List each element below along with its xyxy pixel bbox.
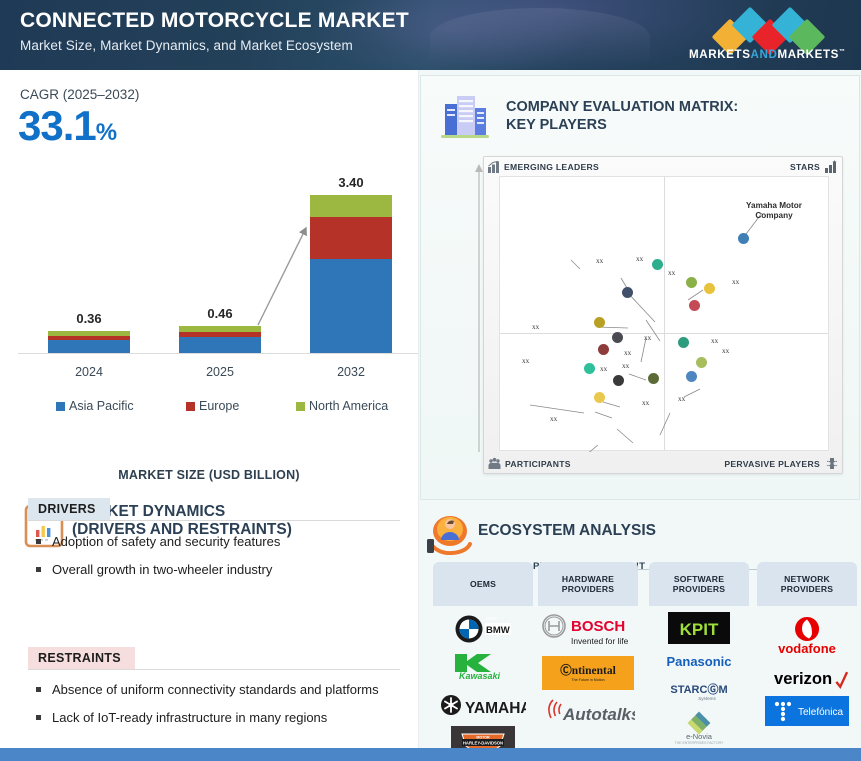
- matrix-point-label-10: xx: [678, 395, 685, 403]
- matrix-quadrant-stars: STARS: [790, 162, 820, 172]
- page-title: CONNECTED MOTORCYCLE MARKET: [20, 9, 409, 33]
- matrix-wrapper: MARKET SHARE/RANK EMERGING LEADERS STARS: [471, 156, 843, 476]
- matrix-title-line2: KEY PLAYERS: [506, 116, 738, 134]
- logo-autotalks: Autotalks: [540, 694, 636, 728]
- svg-text:HARLEY-DAVIDSON: HARLEY-DAVIDSON: [463, 741, 503, 746]
- matrix-point-label-3: xx: [732, 278, 739, 286]
- restraint-item-2-text: Lack of IoT-ready infrastructure in many…: [52, 710, 327, 725]
- matrix-point-label-4: xx: [711, 337, 718, 345]
- markets-and-markets-logo: MARKETSANDMARKETS™: [689, 8, 839, 62]
- bar-segment-asia-pacific-2025: [179, 337, 261, 353]
- legend-swatch-asia-pacific: [56, 402, 65, 411]
- driver-item-2: Overall growth in two-wheeler industry: [36, 562, 272, 577]
- matrix-point-15[interactable]: [594, 392, 605, 403]
- svg-text:BMW: BMW: [486, 625, 510, 636]
- bar-segment-asia-pacific-2024: [48, 340, 130, 353]
- page-header: CONNECTED MOTORCYCLE MARKET Market Size,…: [0, 0, 861, 70]
- matrix-point-label-8: xx: [644, 334, 651, 342]
- ecosystem-header-hardware-line2: PROVIDERS: [562, 584, 614, 595]
- logo-verizon: verizon: [764, 662, 850, 692]
- matrix-point-14[interactable]: [613, 375, 624, 386]
- ecosystem-header-hardware: HARDWARE PROVIDERS: [538, 562, 638, 606]
- restraint-item-1-text: Absence of uniform connectivity standard…: [52, 682, 379, 697]
- legend-label-north-america: North America: [309, 399, 388, 413]
- matrix-point-13[interactable]: [584, 363, 595, 374]
- svg-text:Panasonic: Panasonic: [666, 654, 731, 669]
- ecosystem-header-network-line1: NETWORK: [781, 574, 833, 585]
- legend-item-europe: Europe: [186, 399, 296, 413]
- matrix-label-yamaha: Yamaha Motor Company: [732, 201, 816, 221]
- bar-2024: 0.36: [48, 331, 130, 353]
- matrix-box: EMERGING LEADERS STARS PARTICIPANTS PERV…: [483, 156, 843, 474]
- matrix-quadrant-pervasive-players: PERVASIVE PLAYERS: [724, 459, 820, 469]
- vodafone-logo-icon: vodafone: [764, 613, 850, 657]
- logo-panasonic: Panasonic: [656, 648, 742, 674]
- puzzle-piece-icon: [825, 457, 839, 470]
- logo-continental: Ⓒntinental The Future in Motion: [542, 656, 634, 690]
- svg-text:MOTOR: MOTOR: [476, 736, 490, 740]
- verizon-logo-icon: verizon: [764, 664, 850, 690]
- matrix-quadrant-emerging-leaders: EMERGING LEADERS: [504, 162, 599, 172]
- matrix-point-label-6: xx: [532, 323, 539, 331]
- footer-bar: [0, 748, 861, 761]
- logo-kpit: KPIT: [668, 612, 730, 644]
- logo-e-novia: e-Novia THE ENTERPRISES FACTORY: [656, 710, 742, 746]
- matrix-point-3[interactable]: [704, 283, 715, 294]
- bosch-logo-icon: BOSCH Invented for life: [541, 613, 635, 651]
- ecosystem-header-hardware-line1: HARDWARE: [562, 574, 614, 585]
- svg-text:Systems: Systems: [698, 696, 716, 701]
- matrix-point-label-9: xx: [722, 347, 729, 355]
- legend-swatch-north-america: [296, 402, 305, 411]
- office-building-icon: [439, 92, 491, 140]
- emerging-leaders-icon: [488, 161, 500, 173]
- matrix-point-yamaha[interactable]: [738, 233, 749, 244]
- restraints-rule: [28, 669, 400, 670]
- bar-value-2025: 0.46: [179, 306, 261, 321]
- legend-label-europe: Europe: [199, 399, 239, 413]
- market-size-bar-chart: 0.36 2024 0.46 2025 3.40 2032: [18, 115, 418, 415]
- logo-word-markets2: MARKETS: [777, 48, 839, 61]
- bar-segment-north-america-2032: [310, 195, 392, 217]
- logo-word-markets: MARKETS: [689, 48, 751, 61]
- right-column: COMPANY EVALUATION MATRIX: KEY PLAYERS M…: [419, 70, 861, 748]
- matrix-point-8[interactable]: [678, 337, 689, 348]
- kpit-logo-icon: KPIT: [670, 615, 728, 641]
- chart-legend: Asia Pacific Europe North America: [56, 399, 416, 413]
- svg-text:The Future in Motion: The Future in Motion: [571, 678, 604, 682]
- logo-wordmark: MARKETSANDMARKETS™: [689, 48, 839, 61]
- bar-2032: 3.40: [310, 195, 392, 353]
- ecosystem-logos-software: KPIT Panasonic STARCⒼM Systems: [649, 606, 749, 746]
- bar-segment-asia-pacific-2032: [310, 259, 392, 353]
- logo-bmw: BMW BMW: [440, 612, 526, 646]
- left-column: CAGR (2025–2032) 33.1% 0.36 2024 0.46 20…: [0, 70, 418, 748]
- ecosystem-header-software-line1: SOFTWARE: [673, 574, 725, 585]
- svg-text:Invented for life: Invented for life: [571, 636, 629, 646]
- restraint-item-1: Absence of uniform connectivity standard…: [36, 682, 379, 697]
- stars-bar-icon: [825, 160, 838, 173]
- logo-trademark: ™: [839, 49, 846, 55]
- bar-value-2032: 3.40: [310, 175, 392, 190]
- svg-text:Ⓒntinental: Ⓒntinental: [560, 663, 616, 677]
- matrix-title: COMPANY EVALUATION MATRIX: KEY PLAYERS: [506, 98, 738, 134]
- logo-vodafone: vodafone: [764, 612, 850, 658]
- matrix-title-line1: COMPANY EVALUATION MATRIX:: [506, 98, 738, 116]
- drivers-rule: [28, 520, 400, 521]
- ecosystem-logos-oems: BMW BMW Kawasaki: [433, 606, 533, 761]
- svg-text:Autotalks: Autotalks: [562, 705, 635, 724]
- matrix-point-2[interactable]: [686, 277, 697, 288]
- legend-swatch-europe: [186, 402, 195, 411]
- svg-text:STARCⒼM: STARCⒼM: [670, 682, 727, 696]
- svg-text:e-Novia: e-Novia: [686, 732, 713, 741]
- chart-axis-line: [18, 353, 418, 354]
- logo-starcom: STARCⒼM Systems: [656, 678, 742, 706]
- svg-text:YAMAHA: YAMAHA: [465, 700, 526, 717]
- ecosystem-logos-network: vodafone verizon Telefónica: [757, 606, 857, 726]
- logo-bosch: BOSCH Invented for life: [540, 612, 636, 652]
- logo-kawasaki: Kawasaki: [440, 650, 526, 684]
- matrix-point-label-14: xx: [642, 399, 649, 407]
- ecosystem-header-oems-text: OEMS: [470, 579, 496, 590]
- logo-telefonica: Telefónica: [765, 696, 849, 726]
- svg-text:vodafone: vodafone: [778, 641, 836, 656]
- legend-label-asia-pacific: Asia Pacific: [69, 399, 134, 413]
- svg-text:verizon: verizon: [774, 669, 832, 688]
- svg-text:Telefónica: Telefónica: [798, 707, 843, 718]
- company-evaluation-matrix-panel: COMPANY EVALUATION MATRIX: KEY PLAYERS M…: [420, 75, 860, 500]
- ecosystem-column-hardware: HARDWARE PROVIDERS BOSCH Invented for li…: [538, 562, 638, 728]
- bullet-square-icon: [36, 539, 41, 544]
- matrix-point-label-2: xx: [668, 269, 675, 277]
- matrix-point-label-1: xx: [636, 255, 643, 263]
- restraint-item-2: Lack of IoT-ready infrastructure in many…: [36, 710, 327, 725]
- ecosystem-header-oems: OEMS: [433, 562, 533, 606]
- matrix-point-label-7: xx: [600, 365, 607, 373]
- matrix-point-7[interactable]: [612, 332, 623, 343]
- ecosystem-header-network-line2: PROVIDERS: [781, 584, 833, 595]
- matrix-point-11[interactable]: [648, 373, 659, 384]
- ecosystem-header-software: SOFTWARE PROVIDERS: [649, 562, 749, 606]
- matrix-point-9[interactable]: [696, 357, 707, 368]
- matrix-point-label-5: xx: [596, 257, 603, 265]
- ecosystem-title: ECOSYSTEM ANALYSIS: [478, 522, 656, 540]
- legend-item-asia-pacific: Asia Pacific: [56, 399, 186, 413]
- cagr-label: CAGR (2025–2032): [20, 87, 139, 102]
- matrix-point-1[interactable]: [652, 259, 663, 270]
- bar-category-2032: 2032: [310, 365, 392, 379]
- matrix-plot-area: Yamaha Motor Company xx xx xx xx xx xx: [499, 176, 829, 451]
- logo-word-and: AND: [751, 48, 778, 61]
- ecosystem-column-oems: OEMS BMW BMW Kawasaki: [433, 562, 533, 761]
- handshake-person-icon: [427, 513, 473, 555]
- ecosystem-column-software: SOFTWARE PROVIDERS KPIT Panasonic STARCⒼ…: [649, 562, 749, 746]
- matrix-point-5[interactable]: [622, 287, 633, 298]
- bar-2025: 0.46: [179, 326, 261, 353]
- svg-text:KPIT: KPIT: [680, 620, 719, 639]
- bullet-square-icon: [36, 687, 41, 692]
- autotalks-logo-icon: Autotalks: [541, 696, 635, 726]
- bar-category-2024: 2024: [48, 365, 130, 379]
- bmw-logo-icon: BMW BMW: [452, 614, 514, 644]
- svg-text:Kawasaki: Kawasaki: [459, 671, 501, 681]
- ecosystem-header-software-line2: PROVIDERS: [673, 584, 725, 595]
- starcom-logo-icon: STARCⒼM Systems: [657, 680, 741, 704]
- bar-segment-europe-2032: [310, 217, 392, 259]
- driver-item-1: Adoption of safety and security features: [36, 534, 280, 549]
- driver-item-2-text: Overall growth in two-wheeler industry: [52, 562, 272, 577]
- matrix-point-label-12: xx: [624, 349, 631, 357]
- bar-category-2025: 2025: [179, 365, 261, 379]
- bullet-square-icon: [36, 567, 41, 572]
- driver-item-1-text: Adoption of safety and security features: [52, 534, 280, 549]
- drivers-badge: DRIVERS: [28, 498, 110, 520]
- matrix-point-10[interactable]: [686, 371, 697, 382]
- market-size-caption: MARKET SIZE (USD BILLION): [0, 468, 418, 482]
- participants-icon: [488, 457, 501, 470]
- e-novia-logo-icon: e-Novia THE ENTERPRISES FACTORY: [664, 711, 734, 745]
- matrix-point-4[interactable]: [689, 300, 700, 311]
- matrix-label-yamaha-text: Yamaha Motor Company: [746, 201, 802, 220]
- ecosystem-header-network: NETWORK PROVIDERS: [757, 562, 857, 606]
- restraints-badge: RESTRAINTS: [28, 647, 135, 669]
- bar-value-2024: 0.36: [48, 311, 130, 326]
- svg-text:THE ENTERPRISES FACTORY: THE ENTERPRISES FACTORY: [675, 741, 724, 745]
- matrix-point-label-13: xx: [522, 357, 529, 365]
- matrix-point-12[interactable]: [598, 344, 609, 355]
- matrix-point-6[interactable]: [594, 317, 605, 328]
- matrix-quadrant-participants: PARTICIPANTS: [505, 459, 571, 469]
- matrix-point-label-11: xx: [622, 362, 629, 370]
- matrix-point-label-15: xx: [550, 415, 557, 423]
- bullet-square-icon: [36, 715, 41, 720]
- svg-text:BMW: BMW: [486, 616, 498, 621]
- panasonic-logo-icon: Panasonic: [657, 651, 741, 671]
- svg-text:BOSCH: BOSCH: [571, 618, 625, 635]
- ecosystem-logos-hardware: BOSCH Invented for life Ⓒntinental The F…: [538, 606, 638, 728]
- page-subtitle: Market Size, Market Dynamics, and Market…: [20, 38, 353, 53]
- ecosystem-column-network: NETWORK PROVIDERS vodafone verizon: [757, 562, 857, 726]
- legend-item-north-america: North America: [296, 399, 416, 413]
- kawasaki-logo-icon: Kawasaki: [445, 652, 521, 682]
- telefonica-logo-icon: Telefónica: [766, 698, 848, 724]
- logo-yamaha: YAMAHA: [440, 688, 526, 722]
- continental-logo-icon: Ⓒntinental The Future in Motion: [544, 660, 632, 686]
- yamaha-logo-icon: YAMAHA: [440, 692, 526, 718]
